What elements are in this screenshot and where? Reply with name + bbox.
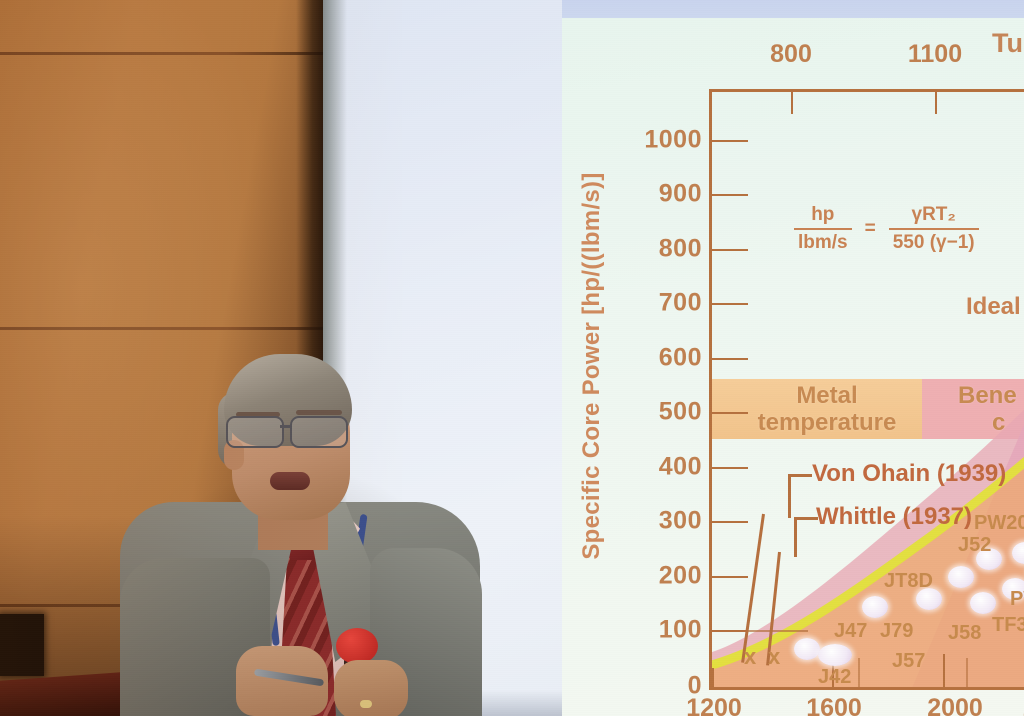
x-axis-top-title: Tur: [992, 28, 1024, 59]
x-bottom-tick-2000: [943, 654, 945, 690]
annotation-von-ohain: Von Ohain (1939): [812, 460, 1006, 488]
x-top-tick-1100: [935, 92, 937, 114]
y-tick-500: [712, 412, 748, 414]
speaker-hand-right: [334, 660, 408, 716]
label-j79: J79: [880, 620, 913, 643]
label-j42: J42: [818, 666, 851, 689]
formula-block: hp lbm/s = γRT₂ 550 (γ−1): [794, 204, 979, 254]
glasses-lens-left: [226, 416, 284, 448]
y-axis-line: [709, 89, 712, 690]
y-tick-label-300: 300: [659, 507, 702, 536]
x-bottom-tick-label-2000: 2000: [927, 694, 983, 716]
annotation-whittle: Whittle (1937): [816, 503, 972, 531]
formula-right-denominator: 550 (γ−1): [889, 232, 979, 254]
y-tick-700: [712, 303, 748, 305]
x-axis-top-line: [709, 89, 1024, 92]
y-tick-400: [712, 467, 748, 469]
label-j47: J47: [834, 620, 867, 643]
x-bottom-tick-1200: [712, 668, 714, 690]
microphone-head: [336, 628, 378, 664]
formula-left-denominator: lbm/s: [794, 232, 852, 254]
x-top-tick-800: [791, 92, 793, 114]
leader-whittle-vertical: [794, 517, 797, 557]
x-bottom-tick-label-1600: 1600: [806, 694, 862, 716]
glasses-lens-right: [290, 416, 348, 448]
y-tick-label-800: 800: [659, 235, 702, 264]
y-tick-300: [712, 521, 748, 523]
y-tick-900: [712, 194, 748, 196]
y-axis-title: Specific Core Power [hp/((lbm/s)]: [578, 172, 606, 559]
data-point-j42b: [818, 644, 852, 666]
bottom-inner-line: [712, 630, 808, 632]
glasses-bridge: [280, 425, 292, 428]
data-point-jt8d: [948, 566, 974, 588]
y-tick-label-1000: 1000: [644, 126, 702, 155]
speaker-mouth: [270, 472, 310, 490]
data-point-j58: [970, 592, 996, 614]
leader-von-ohain-vertical: [788, 474, 791, 518]
data-point-j47: [862, 596, 888, 618]
formula-left-fraction: hp lbm/s: [794, 204, 852, 254]
y-tick-1000: [712, 140, 748, 142]
label-pw: PW: [1010, 588, 1024, 611]
formula-left-bar: [794, 228, 852, 230]
label-pw20: PW20: [974, 512, 1024, 535]
y-tick-800: [712, 249, 748, 251]
presentation-slide: Metal temperature Bene c: [562, 18, 1024, 716]
x-marker-whittle: x: [768, 644, 780, 670]
bottom-divider-1: [858, 658, 860, 690]
ideal-label: Ideal: [966, 293, 1021, 321]
speaker-eyebrow-right: [296, 410, 342, 415]
x-top-tick-label-800: 800: [770, 40, 812, 69]
x-top-tick-label-1100: 1100: [908, 40, 962, 69]
leader-whittle-horizontal: [794, 517, 818, 520]
data-point-j42: [794, 638, 820, 660]
leader-von-ohain-horizontal: [788, 474, 812, 477]
label-jt8d: JT8D: [884, 570, 933, 593]
slide-chart: Metal temperature Bene c: [562, 18, 1024, 716]
formula-right-bar: [889, 228, 979, 230]
label-j57: J57: [892, 650, 925, 673]
x-axis-bottom-line: [709, 687, 1024, 690]
formula-right-numerator: γRT₂: [908, 204, 960, 226]
y-tick-label-400: 400: [659, 453, 702, 482]
y-tick-label-500: 500: [659, 398, 702, 427]
y-tick-600: [712, 358, 748, 360]
slide-top-band: [562, 0, 1024, 19]
x-bottom-tick-label-1200: 1200: [686, 694, 742, 716]
speaker-glasses: [224, 416, 360, 446]
wall-recess-panel: [0, 614, 44, 676]
label-j52: J52: [958, 534, 991, 557]
y-tick-label-700: 700: [659, 289, 702, 318]
y-tick-200: [712, 576, 748, 578]
y-tick-label-600: 600: [659, 344, 702, 373]
y-tick-label-200: 200: [659, 562, 702, 591]
screenshot-stage: Metal temperature Bene c: [0, 0, 1024, 716]
label-j58: J58: [948, 622, 981, 645]
y-tick-label-100: 100: [659, 616, 702, 645]
formula-right-fraction: γRT₂ 550 (γ−1): [889, 204, 979, 254]
formula-equals: =: [865, 218, 876, 240]
label-tf39: TF39: [992, 614, 1024, 637]
speaker-ring: [360, 700, 372, 708]
y-tick-label-900: 900: [659, 180, 702, 209]
bottom-divider-2: [966, 658, 968, 690]
speaker-figure: [120, 352, 480, 716]
formula-left-numerator: hp: [807, 204, 838, 226]
x-marker-von-ohain: x: [744, 644, 756, 670]
